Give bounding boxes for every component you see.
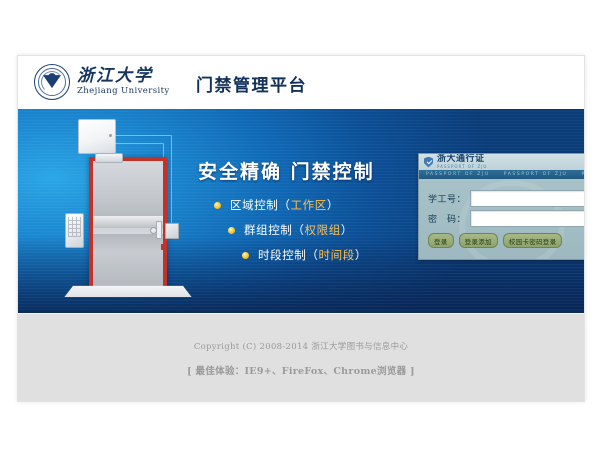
password-field[interactable] [470, 210, 585, 227]
card-reader-icon [165, 223, 179, 239]
feature-text: 时段控制（时间段） [258, 247, 367, 263]
controller-box-icon [78, 119, 116, 154]
university-name: 浙江大学 Zhejiang University [77, 68, 170, 96]
page-title: 门禁管理平台 [196, 71, 307, 96]
banner-slogan: 安全精确 门禁控制 [198, 157, 375, 184]
login-title-en: PASSPORT OF ZJU [437, 165, 487, 169]
door-panel [93, 161, 163, 287]
portal-page: 浙江大学 Zhejiang University 门禁管理平台 [17, 55, 585, 402]
password-row: 密 码： [428, 210, 585, 227]
hero-banner: 安全精确 门禁控制 区域控制（工作区） 群组控制（权限组） 时段控制（时间段） [18, 109, 584, 313]
floor-plate [64, 286, 191, 297]
list-item: 时段控制（时间段） [242, 247, 367, 263]
zju-seal-icon [34, 64, 70, 100]
university-name-cn: 浙江大学 [77, 68, 170, 85]
door-closer-icon [95, 153, 123, 163]
shield-icon [424, 157, 433, 168]
door-access-control-illustration [43, 119, 188, 309]
site-footer: Copyright (C) 2008-2014 浙江大学图书与信息中心 [ 最佳… [18, 313, 584, 402]
cable-line [171, 135, 172, 225]
login-title-cn: 浙大通行证 [437, 155, 487, 164]
login-panel-header: 浙大通行证 PASSPORT OF ZJU [419, 154, 585, 170]
strip-text: PASSPORT OF ZJU [574, 172, 585, 177]
site-header: 浙江大学 Zhejiang University 门禁管理平台 [18, 56, 584, 109]
password-label: 密 码： [428, 212, 470, 225]
university-logo[interactable]: 浙江大学 Zhejiang University [34, 64, 170, 100]
feature-text: 群组控制（权限组） [244, 222, 353, 238]
strip-text: PASSPORT OF ZJU [419, 172, 497, 177]
campus-card-login-button[interactable]: 校园卡密码登录 [503, 233, 563, 248]
browser-tip-text: [ 最佳体验：IE9+、FireFox、Chrome浏览器 ] [18, 363, 584, 377]
user-id-field[interactable] [470, 190, 585, 207]
keypad-reader-icon [65, 213, 84, 248]
feature-list: 区域控制（工作区） 群组控制（权限组） 时段控制（时间段） [214, 197, 367, 272]
door-frame [89, 157, 167, 287]
user-id-row: 学工号： [428, 190, 585, 207]
cable-line [114, 143, 163, 144]
list-item: 区域控制（工作区） [214, 197, 367, 213]
bullet-dot-icon [214, 202, 221, 209]
login-button[interactable]: 登录 [428, 233, 454, 248]
bullet-dot-icon [242, 252, 249, 259]
screenshot-root: 浙江大学 Zhejiang University 门禁管理平台 [0, 0, 600, 450]
cable-line [114, 135, 171, 136]
list-item: 群组控制（权限组） [228, 222, 367, 238]
copyright-text: Copyright (C) 2008-2014 浙江大学图书与信息中心 [18, 340, 584, 352]
login-add-button[interactable]: 登录添加 [459, 233, 498, 248]
feature-text: 区域控制（工作区） [230, 197, 339, 213]
university-name-en: Zhejiang University [77, 87, 170, 96]
user-id-label: 学工号： [428, 192, 470, 205]
bullet-dot-icon [228, 227, 235, 234]
login-marquee-strip: PASSPORT OF ZJU PASSPORT OF ZJU PASSPORT… [419, 170, 585, 179]
login-button-row: 登录 登录添加 校园卡密码登录 [428, 233, 562, 248]
login-panel: 浙大通行证 PASSPORT OF ZJU PASSPORT OF ZJU PA… [418, 153, 585, 260]
strip-text: PASSPORT OF ZJU [497, 172, 575, 177]
